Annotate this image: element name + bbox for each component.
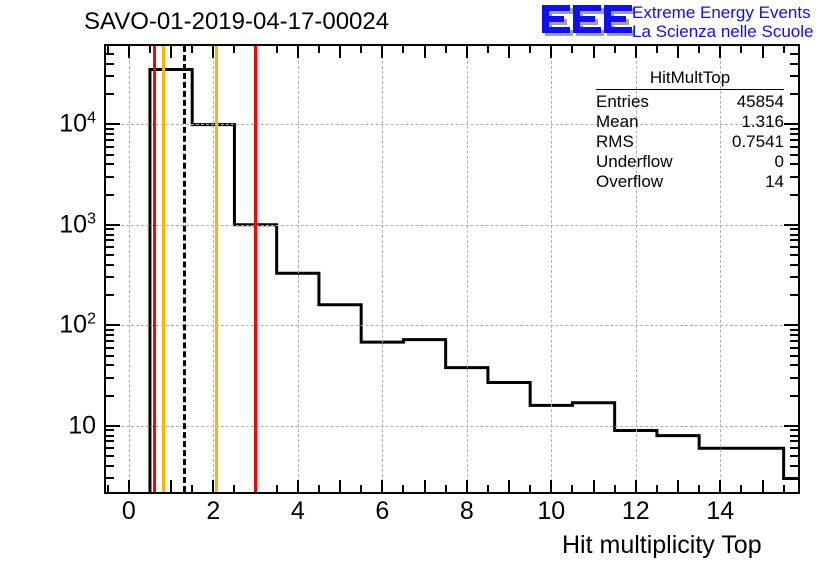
y-tick-minor: [790, 329, 798, 331]
y-tick-minor: [790, 163, 798, 165]
stats-row: Overflow14: [592, 172, 788, 192]
eee-logo-line2: La Scienza nelle Scuole: [632, 22, 813, 41]
x-tick-minor: [740, 485, 742, 492]
x-tick-minor: [614, 485, 616, 492]
x-tick-major: [762, 46, 764, 58]
x-tick-major: [508, 480, 510, 492]
y-tick-minor: [790, 429, 798, 431]
x-tick-major: [677, 46, 679, 58]
x-tick-major: [128, 480, 130, 492]
stats-label: Entries: [596, 92, 649, 112]
y-tick-major: [784, 425, 798, 427]
y-tick-minor: [790, 154, 798, 156]
y-tick-minor: [106, 465, 114, 467]
y-tick-minor: [790, 146, 798, 148]
x-tick-minor: [318, 46, 320, 53]
x-tick-major: [550, 46, 552, 58]
threshold-high-red-line: [254, 46, 257, 492]
y-tick-minor: [106, 447, 114, 449]
y-tick-minor: [106, 63, 114, 65]
x-tick-major: [635, 46, 637, 58]
stats-row: Underflow0: [592, 152, 788, 172]
gridline-horizontal: [106, 225, 798, 226]
y-tick-minor: [106, 246, 114, 248]
x-tick-major: [593, 46, 595, 58]
y-tick-minor: [106, 455, 114, 457]
y-tick-minor: [106, 53, 114, 55]
x-axis-title: Hit multiplicity Top: [562, 531, 762, 560]
y-tick-minor: [790, 340, 798, 342]
y-tick-minor: [106, 340, 114, 342]
stats-box: HitMultTop Entries45854Mean1.316RMS0.754…: [592, 68, 788, 192]
x-tick-major: [719, 480, 721, 492]
y-tick-minor: [106, 294, 114, 296]
x-tick-major: [550, 480, 552, 492]
y-tick-label: 102: [22, 311, 96, 340]
x-tick-minor: [360, 485, 362, 492]
x-tick-minor: [571, 46, 573, 53]
x-tick-minor: [614, 46, 616, 53]
y-tick-minor: [790, 455, 798, 457]
x-tick-minor: [445, 485, 447, 492]
gridline-horizontal: [106, 325, 798, 326]
y-tick-minor: [106, 75, 114, 77]
y-tick-minor: [106, 435, 114, 437]
x-tick-major: [635, 480, 637, 492]
y-tick-minor: [106, 329, 114, 331]
x-tick-label: 12: [622, 497, 650, 526]
y-tick-minor: [790, 53, 798, 55]
y-tick-minor: [790, 228, 798, 230]
stats-row: RMS0.7541: [592, 132, 788, 152]
x-tick-minor: [783, 46, 785, 53]
y-tick-minor: [106, 377, 114, 379]
y-tick-minor: [790, 276, 798, 278]
y-tick-minor: [106, 347, 114, 349]
x-tick-major: [170, 46, 172, 58]
y-tick-minor: [106, 139, 114, 141]
threshold-low-orange-line: [162, 46, 165, 492]
page-title: SAVO-01-2019-04-17-00024: [84, 8, 389, 36]
x-tick-minor: [571, 485, 573, 492]
x-tick-minor: [783, 485, 785, 492]
y-tick-minor: [790, 128, 798, 130]
x-tick-major: [170, 480, 172, 492]
y-tick-minor: [106, 128, 114, 130]
y-tick-minor: [106, 234, 114, 236]
x-tick-minor: [402, 46, 404, 53]
x-tick-minor: [487, 485, 489, 492]
y-tick-minor: [790, 93, 798, 95]
y-tick-minor: [790, 334, 798, 336]
x-tick-minor: [698, 485, 700, 492]
y-tick-minor: [106, 395, 114, 397]
y-tick-minor: [790, 364, 798, 366]
y-tick-minor: [106, 154, 114, 156]
eee-logo-line1: Extreme Energy Events: [632, 3, 813, 22]
threshold-low-red-line: [153, 46, 156, 492]
stats-label: Mean: [596, 112, 639, 132]
y-tick-minor: [790, 435, 798, 437]
y-tick-minor: [106, 364, 114, 366]
y-tick-minor: [790, 194, 798, 196]
y-tick-minor: [106, 146, 114, 148]
x-tick-minor: [445, 46, 447, 53]
y-tick-minor: [790, 355, 798, 357]
x-tick-label: 4: [291, 497, 305, 526]
y-tick-minor: [790, 234, 798, 236]
x-tick-major: [466, 480, 468, 492]
y-tick-major: [784, 324, 798, 326]
y-tick-minor: [106, 254, 114, 256]
x-tick-major: [424, 46, 426, 58]
x-tick-major: [339, 46, 341, 58]
x-tick-minor: [276, 46, 278, 53]
x-tick-major: [381, 480, 383, 492]
stats-value: 45854: [737, 92, 784, 112]
x-tick-major: [128, 46, 130, 58]
stats-row: Entries45854: [592, 92, 788, 112]
x-tick-minor: [402, 485, 404, 492]
mean-dashed-line: [183, 46, 186, 492]
y-tick-minor: [106, 228, 114, 230]
x-tick-major: [297, 480, 299, 492]
stats-rows: Entries45854Mean1.316RMS0.7541Underflow0…: [592, 92, 788, 192]
x-tick-minor: [656, 485, 658, 492]
x-tick-minor: [107, 485, 109, 492]
y-tick-minor: [790, 254, 798, 256]
x-tick-major: [762, 480, 764, 492]
x-tick-minor: [233, 485, 235, 492]
x-tick-minor: [149, 485, 151, 492]
y-tick-minor: [106, 163, 114, 165]
y-tick-minor: [790, 447, 798, 449]
x-tick-minor: [233, 46, 235, 53]
stats-title: HitMultTop: [596, 68, 784, 90]
eee-logo-text: Extreme Energy Events La Scienza nelle S…: [632, 3, 813, 41]
y-tick-minor: [790, 176, 798, 178]
x-tick-minor: [191, 46, 193, 53]
y-tick-minor: [790, 477, 798, 479]
x-tick-label: 10: [537, 497, 565, 526]
x-tick-label: 0: [122, 497, 136, 526]
y-tick-minor: [106, 264, 114, 266]
stats-label: Overflow: [596, 172, 663, 192]
stats-value: 0: [775, 152, 784, 172]
x-tick-major: [381, 46, 383, 58]
y-tick-minor: [790, 465, 798, 467]
stats-row: Mean1.316: [592, 112, 788, 132]
x-tick-minor: [276, 485, 278, 492]
y-tick-minor: [106, 176, 114, 178]
x-tick-major: [719, 46, 721, 58]
y-tick-minor: [790, 239, 798, 241]
x-tick-minor: [487, 46, 489, 53]
x-tick-major: [297, 46, 299, 58]
y-tick-major: [106, 425, 120, 427]
y-tick-minor: [790, 395, 798, 397]
y-tick-major: [106, 324, 120, 326]
y-tick-minor: [790, 75, 798, 77]
x-tick-minor: [107, 46, 109, 53]
x-tick-major: [424, 480, 426, 492]
stats-value: 1.316: [741, 112, 784, 132]
x-tick-major: [593, 480, 595, 492]
y-tick-minor: [106, 93, 114, 95]
y-tick-major: [106, 123, 120, 125]
stats-value: 14: [765, 172, 784, 192]
y-tick-label: 104: [22, 110, 96, 139]
stats-value: 0.7541: [732, 132, 784, 152]
x-tick-label: 6: [375, 497, 389, 526]
x-tick-minor: [149, 46, 151, 53]
x-tick-minor: [360, 46, 362, 53]
x-tick-major: [508, 46, 510, 58]
x-tick-minor: [698, 46, 700, 53]
x-tick-minor: [191, 485, 193, 492]
y-tick-minor: [106, 440, 114, 442]
x-tick-label: 8: [460, 497, 474, 526]
y-tick-minor: [790, 347, 798, 349]
x-tick-minor: [656, 46, 658, 53]
y-tick-minor: [790, 133, 798, 135]
x-tick-minor: [318, 485, 320, 492]
y-tick-label: 103: [22, 210, 96, 239]
y-tick-minor: [106, 133, 114, 135]
y-tick-minor: [790, 294, 798, 296]
y-tick-minor: [790, 377, 798, 379]
y-tick-minor: [106, 355, 114, 357]
eee-logo-mark: [540, 2, 636, 42]
y-tick-major: [784, 224, 798, 226]
x-tick-major: [339, 480, 341, 492]
x-tick-label: 2: [206, 497, 220, 526]
y-tick-minor: [790, 63, 798, 65]
x-tick-major: [466, 46, 468, 58]
x-tick-major: [677, 480, 679, 492]
y-tick-minor: [790, 139, 798, 141]
y-tick-minor: [106, 477, 114, 479]
plot-canvas: SAVO-01-2019-04-17-00024: [0, 0, 836, 572]
stats-label: RMS: [596, 132, 634, 152]
y-tick-minor: [790, 264, 798, 266]
y-tick-minor: [790, 246, 798, 248]
y-tick-minor: [106, 334, 114, 336]
y-tick-minor: [106, 276, 114, 278]
x-tick-minor: [740, 46, 742, 53]
y-tick-label: 10: [22, 411, 96, 440]
x-tick-minor: [529, 485, 531, 492]
x-tick-label: 14: [706, 497, 734, 526]
x-tick-minor: [529, 46, 531, 53]
y-tick-minor: [106, 429, 114, 431]
y-tick-minor: [790, 440, 798, 442]
gridline-horizontal: [106, 426, 798, 427]
y-tick-minor: [106, 194, 114, 196]
stats-label: Underflow: [596, 152, 673, 172]
threshold-high-orange-line: [215, 46, 218, 492]
eee-logo: Extreme Energy Events La Scienza nelle S…: [540, 2, 836, 44]
y-tick-major: [106, 224, 120, 226]
y-tick-minor: [106, 239, 114, 241]
